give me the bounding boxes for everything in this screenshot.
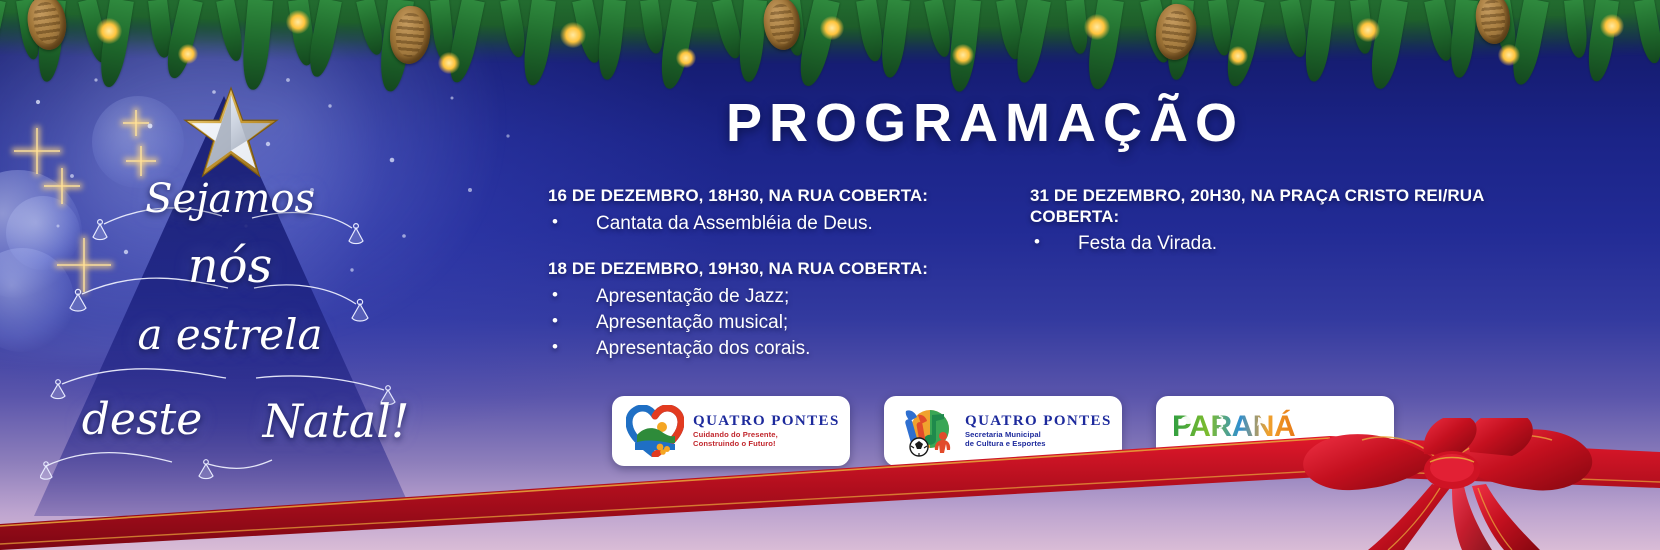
event-header: 18 DE DEZEMBRO, 19H30, NA RUA COBERTA: — [548, 259, 1018, 280]
slogan-line-1: Sejamos — [40, 176, 420, 222]
schedule-column-left: 16 DE DEZEMBRO, 18H30, NA RUA COBERTA: C… — [548, 186, 1018, 384]
list-item: Apresentação musical; — [548, 310, 1018, 336]
logo-tagline-line1: Cuidando do Presente, — [693, 430, 840, 439]
logo-row: QUATRO PONTES Cuidando do Presente, Cons… — [612, 396, 1394, 466]
list-item: Apresentação dos corais. — [548, 336, 1018, 362]
event-header: 31 DE DEZEMBRO, 20H30, NA PRAÇA CRISTO R… — [1030, 186, 1500, 227]
event-item-list: Apresentação de Jazz; Apresentação music… — [548, 284, 1018, 363]
logo-tagline-line2: de Cultura e Esportes — [965, 439, 1112, 448]
event-block: 18 DE DEZEMBRO, 19H30, NA RUA COBERTA: A… — [548, 259, 1018, 362]
star-icon — [182, 86, 280, 180]
slogan-line-2: nós — [40, 238, 420, 294]
logo-card-prefeitura[interactable]: QUATRO PONTES Cuidando do Presente, Cons… — [612, 396, 850, 466]
christmas-program-banner: Sejamos nós a estrela deste Natal! PROGR… — [0, 0, 1660, 550]
event-header: 16 DE DEZEMBRO, 18H30, NA RUA COBERTA: — [548, 186, 1018, 207]
event-block: 16 DE DEZEMBRO, 18H30, NA RUA COBERTA: C… — [548, 186, 1018, 237]
list-item: Festa da Virada. — [1030, 231, 1500, 257]
page-title: PROGRAMAÇÃO — [726, 92, 1244, 154]
logo-tagline-line1: Secretaria Municipal — [965, 430, 1112, 439]
culture-sports-icon — [898, 405, 956, 457]
svg-text:PARANÁ: PARANÁ — [1172, 409, 1295, 443]
schedule-column-right: 31 DE DEZEMBRO, 20H30, NA PRAÇA CRISTO R… — [1030, 186, 1500, 280]
heart-landscape-icon — [626, 405, 684, 457]
event-block: 31 DE DEZEMBRO, 20H30, NA PRAÇA CRISTO R… — [1030, 186, 1500, 258]
logo-name: QUATRO PONTES — [965, 414, 1112, 430]
list-item: Apresentação de Jazz; — [548, 284, 1018, 310]
parana-state-icon: PARANÁ — [1172, 407, 1378, 443]
logo-tagline-line2: Construindo o Futuro! — [693, 439, 840, 448]
logo-name: QUATRO PONTES — [693, 414, 840, 430]
event-item-list: Cantata da Assembléia de Deus. — [548, 211, 1018, 237]
logo-card-parana[interactable]: PARANÁ CONHEÇA, SINTA, SURPREENDA-SE. — [1156, 396, 1394, 466]
slogan-line-5: Natal! — [146, 394, 526, 448]
event-item-list: Festa da Virada. — [1030, 231, 1500, 257]
list-item: Cantata da Assembléia de Deus. — [548, 211, 1018, 237]
logo-tagline: CONHEÇA, SINTA, SURPREENDA-SE. — [1193, 446, 1357, 455]
slogan-block: Sejamos nós a estrela deste Natal! — [40, 176, 420, 506]
pine-garland-icon — [0, 0, 1660, 96]
logo-card-secretaria[interactable]: QUATRO PONTES Secretaria Municipal de Cu… — [884, 396, 1122, 466]
slogan-line-3: a estrela — [40, 310, 420, 359]
